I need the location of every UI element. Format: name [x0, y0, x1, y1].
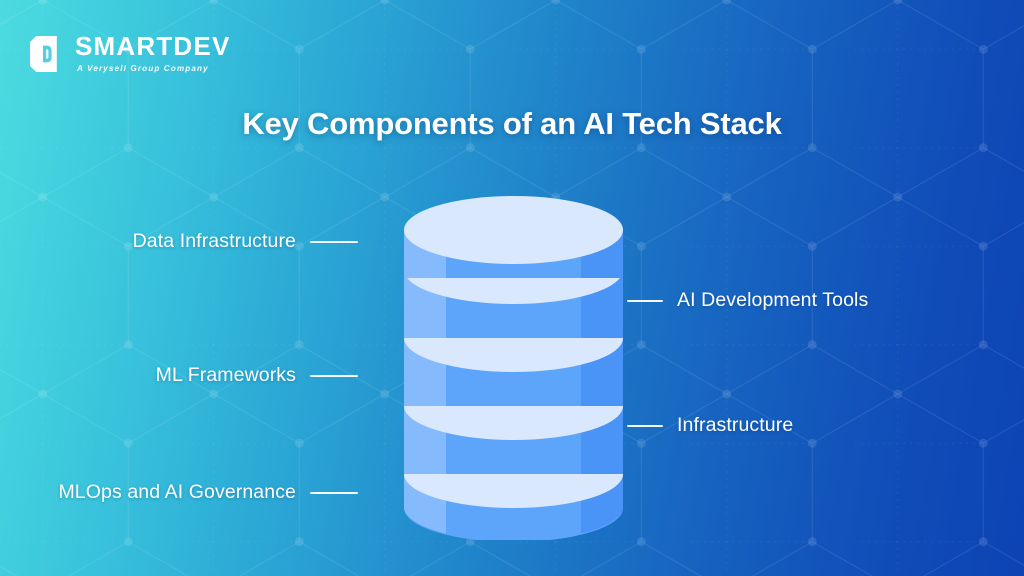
label-infrastructure: Infrastructure	[627, 414, 793, 437]
label-text: MLOps and AI Governance	[58, 481, 296, 504]
label-text: Infrastructure	[677, 414, 793, 437]
slide-canvas: SMARTDEV A Verysell Group Company Key Co…	[0, 0, 1024, 576]
label-text: AI Development Tools	[677, 289, 868, 312]
label-mlops-and-ai-governance: MLOps and AI Governance	[58, 481, 358, 504]
brand-logo: SMARTDEV A Verysell Group Company	[30, 33, 231, 73]
leader-line	[627, 300, 663, 302]
brand-tagline: A Verysell Group Company	[77, 64, 231, 73]
leader-line	[310, 241, 358, 243]
smartdev-d-mark-icon	[30, 36, 63, 72]
label-text: ML Frameworks	[156, 364, 296, 387]
brand-name: SMARTDEV	[75, 33, 231, 59]
leader-line	[310, 492, 358, 494]
label-text: Data Infrastructure	[133, 230, 296, 253]
label-ai-development-tools: AI Development Tools	[627, 289, 868, 312]
leader-line	[627, 425, 663, 427]
label-data-infrastructure: Data Infrastructure	[133, 230, 358, 253]
label-ml-frameworks: ML Frameworks	[156, 364, 358, 387]
leader-line	[310, 375, 358, 377]
page-title: Key Components of an AI Tech Stack	[0, 106, 1024, 142]
database-stack-graphic	[404, 196, 623, 540]
